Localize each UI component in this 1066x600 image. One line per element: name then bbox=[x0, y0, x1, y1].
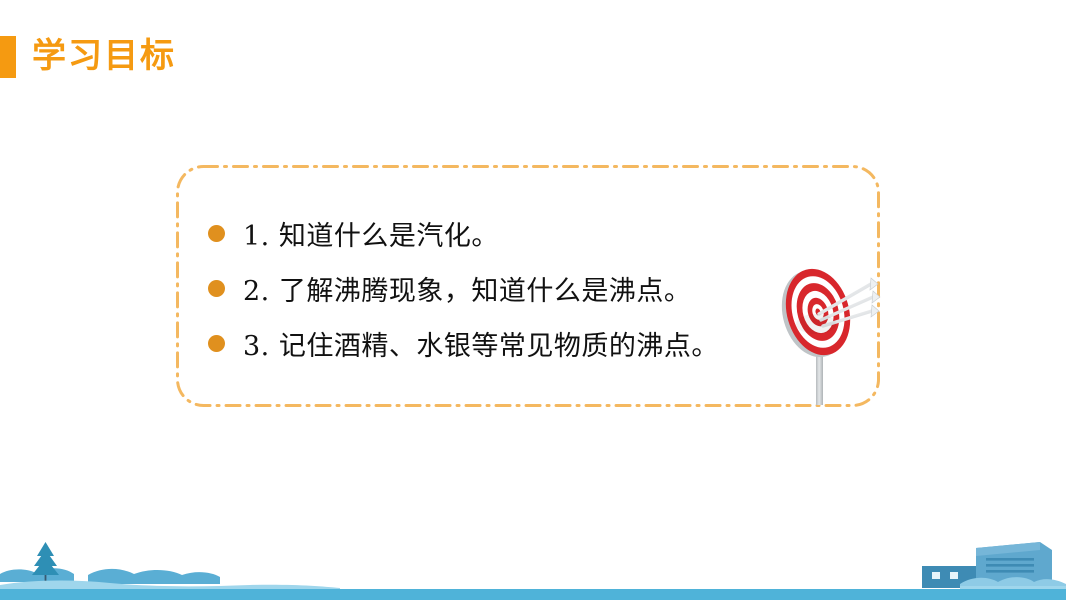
objective-text: 1. 知道什么是汽化。 bbox=[243, 214, 868, 253]
list-item: 3. 记住酒精、水银等常见物质的沸点。 bbox=[208, 316, 868, 371]
list-item: 2. 了解沸腾现象，知道什么是沸点。 bbox=[208, 261, 868, 316]
list-item: 1. 知道什么是汽化。 bbox=[208, 206, 868, 261]
bullet-dot-icon bbox=[208, 225, 225, 242]
dartboard-icon bbox=[772, 262, 882, 412]
bullet-dot-icon bbox=[208, 335, 225, 352]
header-accent-bar bbox=[0, 36, 16, 78]
bullet-dot-icon bbox=[208, 280, 225, 297]
slide-canvas: 学习目标 1. 知道什么是汽化。 2. 了解沸腾现象，知道什么是沸点。 3. 记… bbox=[0, 0, 1066, 600]
objectives-list: 1. 知道什么是汽化。 2. 了解沸腾现象，知道什么是沸点。 3. 记住酒精、水… bbox=[208, 206, 868, 371]
bottom-decoration bbox=[0, 530, 1066, 600]
page-title: 学习目标 bbox=[32, 33, 176, 79]
